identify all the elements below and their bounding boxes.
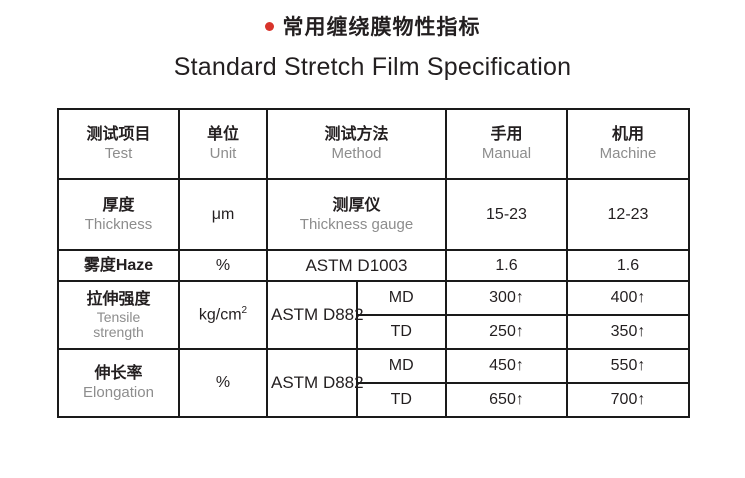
cell-tensile-md-manual: 300↑ xyxy=(446,281,567,315)
cell-tensile-unit: kg/cm2 xyxy=(179,281,267,349)
tensile-item-en-line2: strength xyxy=(62,325,175,340)
cell-elongation-md-machine: 550↑ xyxy=(567,349,689,383)
table-header-row: 测试项目 Test 单位 Unit 测试方法 Method 手用 Manual … xyxy=(58,109,689,179)
header-cell-unit: 单位 Unit xyxy=(179,109,267,179)
cell-tensile-method: ASTM D882 xyxy=(267,281,357,349)
specification-table: 测试项目 Test 单位 Unit 测试方法 Method 手用 Manual … xyxy=(57,108,690,418)
tensile-td-machine-value: 350↑ xyxy=(571,322,685,342)
header-test-cn: 测试项目 xyxy=(62,125,175,145)
elongation-item-en: Elongation xyxy=(62,384,175,402)
cell-tensile-item: 拉伸强度 Tensile strength xyxy=(58,281,179,349)
thickness-machine-value: 12-23 xyxy=(571,205,685,225)
tensile-md-manual-value: 300↑ xyxy=(450,288,563,308)
tensile-direction-td: TD xyxy=(361,322,443,342)
haze-manual-value: 1.6 xyxy=(450,256,563,276)
red-dot-icon xyxy=(265,22,274,31)
tensile-item-cn: 拉伸强度 xyxy=(62,290,175,310)
table-row-haze: 雾度Haze % ASTM D1003 1.6 1.6 xyxy=(58,250,689,281)
cell-elongation-td-manual: 650↑ xyxy=(446,383,567,417)
thickness-method-en: Thickness gauge xyxy=(271,216,442,234)
header-machine-cn: 机用 xyxy=(571,125,685,145)
elongation-direction-md: MD xyxy=(361,356,443,376)
haze-unit: % xyxy=(183,256,263,276)
page-title-chinese: 常用缠绕膜物性指标 xyxy=(0,0,745,42)
cell-haze-unit: % xyxy=(179,250,267,281)
elongation-item-cn: 伸长率 xyxy=(62,364,175,384)
page-title-english: Standard Stretch Film Specification xyxy=(0,42,745,84)
elongation-method: ASTM D882 xyxy=(271,372,353,393)
header-cell-test: 测试项目 Test xyxy=(58,109,179,179)
tensile-td-manual-value: 250↑ xyxy=(450,322,563,342)
cell-haze-method: ASTM D1003 xyxy=(267,250,446,281)
table-row-thickness: 厚度 Thickness μm 测厚仪 Thickness gauge 15-2… xyxy=(58,179,689,250)
haze-machine-value: 1.6 xyxy=(571,256,685,276)
header-machine-en: Machine xyxy=(571,145,685,163)
thickness-item-cn: 厚度 xyxy=(62,196,175,216)
header-manual-en: Manual xyxy=(450,145,563,163)
elongation-md-manual-value: 450↑ xyxy=(450,356,563,376)
tensile-unit: kg/cm2 xyxy=(183,305,263,325)
thickness-method-cn: 测厚仪 xyxy=(271,196,442,216)
elongation-td-machine-value: 700↑ xyxy=(571,390,685,410)
cell-elongation-item: 伸长率 Elongation xyxy=(58,349,179,417)
header-cell-manual: 手用 Manual xyxy=(446,109,567,179)
elongation-td-manual-value: 650↑ xyxy=(450,390,563,410)
page-title-chinese-text: 常用缠绕膜物性指标 xyxy=(283,16,481,39)
header-manual-cn: 手用 xyxy=(450,125,563,145)
cell-tensile-td-manual: 250↑ xyxy=(446,315,567,349)
cell-haze-item: 雾度Haze xyxy=(58,250,179,281)
cell-thickness-method: 测厚仪 Thickness gauge xyxy=(267,179,446,250)
cell-elongation-td-machine: 700↑ xyxy=(567,383,689,417)
cell-elongation-method: ASTM D882 xyxy=(267,349,357,417)
cell-thickness-unit: μm xyxy=(179,179,267,250)
header-method-cn: 测试方法 xyxy=(271,125,442,145)
cell-haze-machine: 1.6 xyxy=(567,250,689,281)
header-unit-cn: 单位 xyxy=(183,125,263,145)
tensile-md-machine-value: 400↑ xyxy=(571,288,685,308)
haze-method: ASTM D1003 xyxy=(271,255,442,276)
cell-elongation-unit: % xyxy=(179,349,267,417)
cell-tensile-td-machine: 350↑ xyxy=(567,315,689,349)
cell-elongation-md-manual: 450↑ xyxy=(446,349,567,383)
tensile-direction-md: MD xyxy=(361,288,443,308)
thickness-item-en: Thickness xyxy=(62,216,175,234)
haze-item-cn: 雾度Haze xyxy=(62,256,175,276)
tensile-method: ASTM D882 xyxy=(271,304,353,325)
cell-tensile-direction-md: MD xyxy=(357,281,447,315)
header-unit-en: Unit xyxy=(183,145,263,163)
cell-tensile-direction-td: TD xyxy=(357,315,447,349)
elongation-unit: % xyxy=(183,373,263,393)
spec-table-container: 测试项目 Test 单位 Unit 测试方法 Method 手用 Manual … xyxy=(57,108,690,418)
elongation-direction-td: TD xyxy=(361,390,443,410)
cell-haze-manual: 1.6 xyxy=(446,250,567,281)
thickness-manual-value: 15-23 xyxy=(450,205,563,225)
cell-tensile-md-machine: 400↑ xyxy=(567,281,689,315)
header-cell-machine: 机用 Machine xyxy=(567,109,689,179)
cell-thickness-machine: 12-23 xyxy=(567,179,689,250)
cell-thickness-manual: 15-23 xyxy=(446,179,567,250)
tensile-unit-base: kg/cm xyxy=(199,306,242,323)
cell-elongation-direction-td: TD xyxy=(357,383,447,417)
tensile-unit-superscript: 2 xyxy=(242,305,248,316)
header-test-en: Test xyxy=(62,145,175,163)
cell-elongation-direction-md: MD xyxy=(357,349,447,383)
header-method-en: Method xyxy=(271,145,442,163)
thickness-unit: μm xyxy=(183,205,263,225)
table-row-elongation-md: 伸长率 Elongation % ASTM D882 MD 450↑ 550↑ xyxy=(58,349,689,383)
table-row-tensile-md: 拉伸强度 Tensile strength kg/cm2 ASTM D882 M… xyxy=(58,281,689,315)
page-header: 常用缠绕膜物性指标 Standard Stretch Film Specific… xyxy=(0,0,745,84)
elongation-md-machine-value: 550↑ xyxy=(571,356,685,376)
cell-thickness-item: 厚度 Thickness xyxy=(58,179,179,250)
header-cell-method: 测试方法 Method xyxy=(267,109,446,179)
tensile-item-en-line1: Tensile xyxy=(62,310,175,325)
